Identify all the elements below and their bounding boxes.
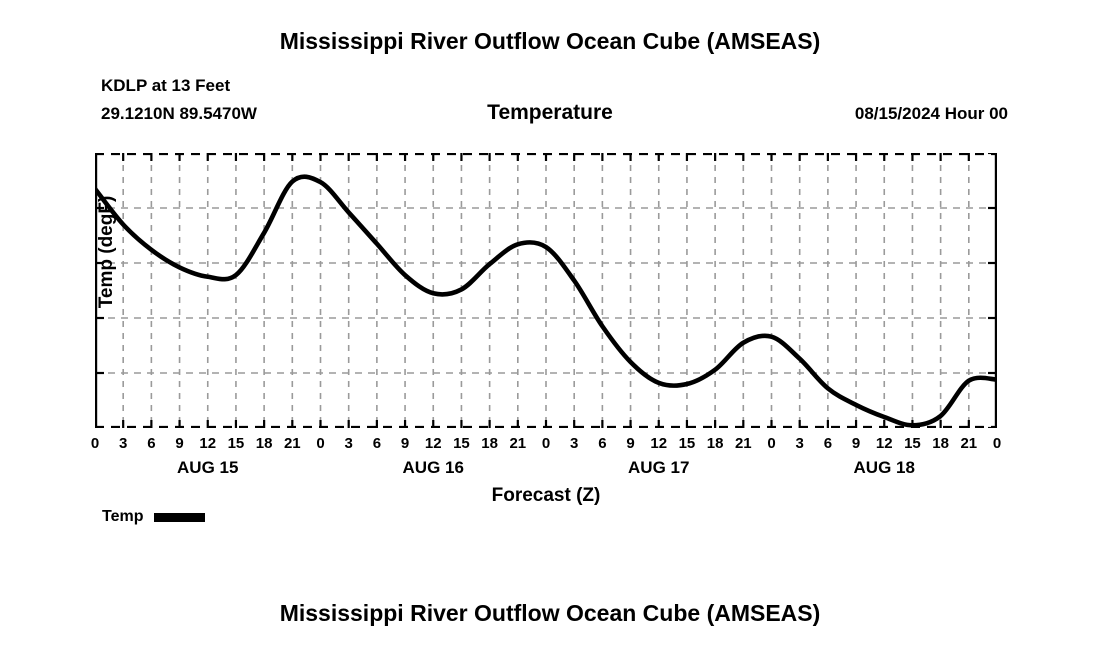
forecast-datestamp: 08/15/2024 Hour 00 xyxy=(855,104,1008,124)
x-axis-day-label: AUG 18 xyxy=(784,458,984,478)
station-label: KDLP at 13 Feet xyxy=(101,76,230,96)
x-axis-day-label: AUG 16 xyxy=(333,458,533,478)
x-axis-title: Forecast (Z) xyxy=(95,485,997,507)
x-tick-label: 0 xyxy=(977,435,1017,452)
x-axis-day-label: AUG 15 xyxy=(108,458,308,478)
y-axis-title: Temp (degF) xyxy=(96,172,118,332)
chart-plot-area: Temp (degF) 93.0092.0091.0090.0089.0088.… xyxy=(95,153,997,428)
page-title-top: Mississippi River Outflow Ocean Cube (AM… xyxy=(0,28,1100,55)
legend-label-temp: Temp xyxy=(102,508,143,526)
chart-svg xyxy=(95,153,997,428)
chart-legend: Temp xyxy=(102,508,205,526)
x-axis-day-label: AUG 17 xyxy=(559,458,759,478)
page-title-bottom: Mississippi River Outflow Ocean Cube (AM… xyxy=(0,600,1100,627)
legend-swatch-temp xyxy=(154,513,205,522)
